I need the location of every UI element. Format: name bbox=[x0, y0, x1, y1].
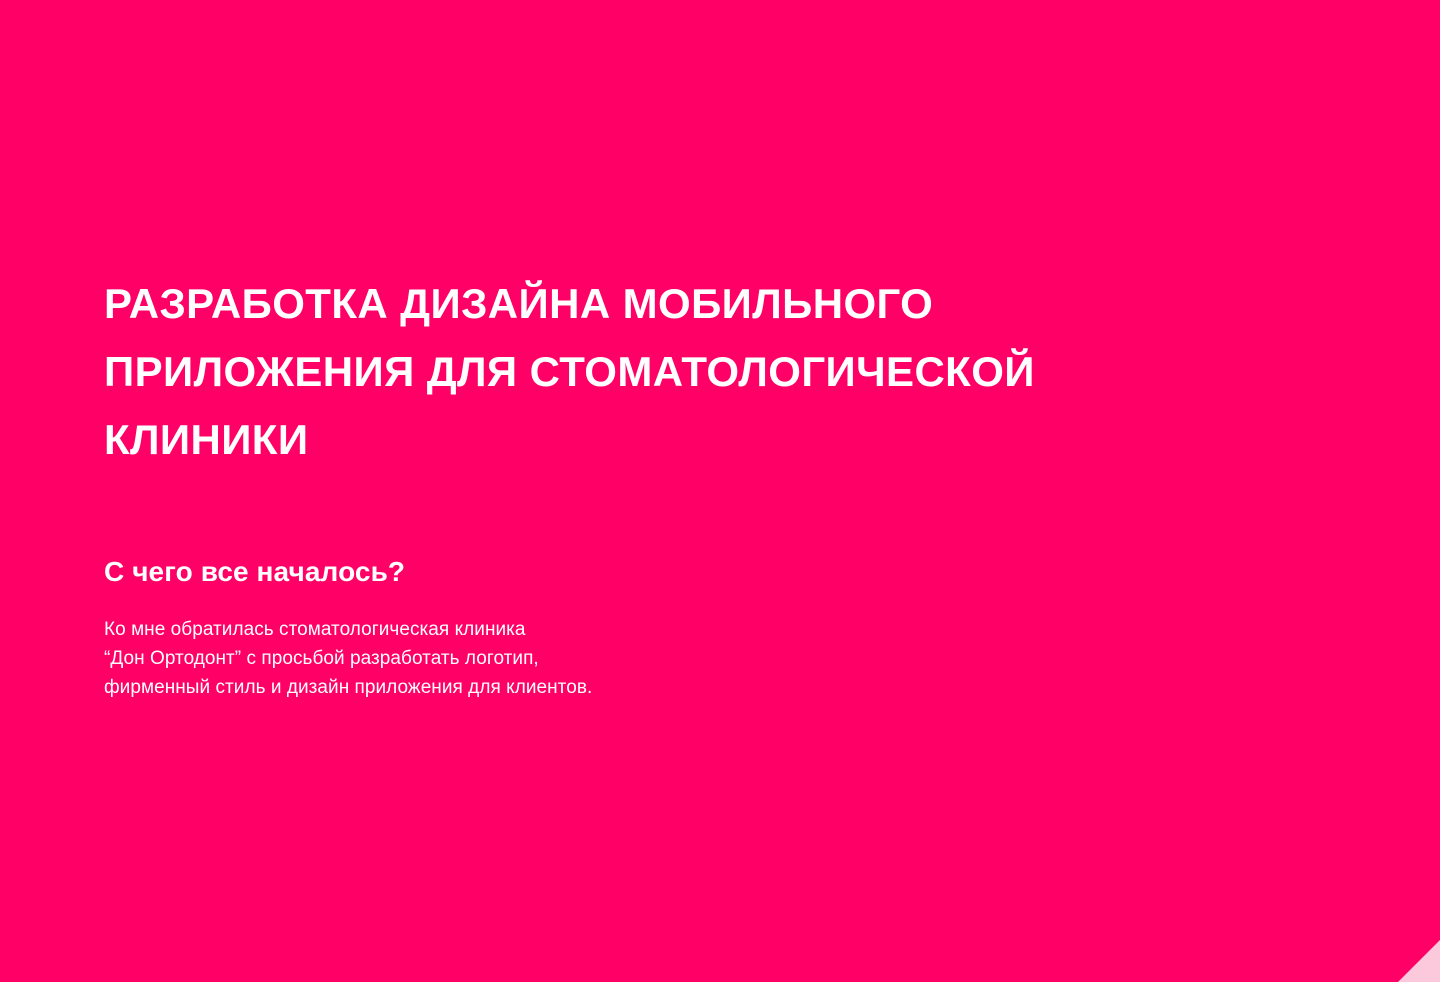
page-curl-icon bbox=[1398, 940, 1440, 982]
section-subheading: С чего все началось? bbox=[104, 554, 405, 590]
slide-canvas: РАЗРАБОТКА ДИЗАЙНА МОБИЛЬНОГО ПРИЛОЖЕНИЯ… bbox=[0, 0, 1440, 982]
slide-content: РАЗРАБОТКА ДИЗАЙНА МОБИЛЬНОГО ПРИЛОЖЕНИЯ… bbox=[104, 0, 1224, 982]
section-body-text: Ко мне обратилась стоматологическая клин… bbox=[104, 615, 864, 702]
page-title: РАЗРАБОТКА ДИЗАЙНА МОБИЛЬНОГО ПРИЛОЖЕНИЯ… bbox=[104, 270, 1204, 474]
